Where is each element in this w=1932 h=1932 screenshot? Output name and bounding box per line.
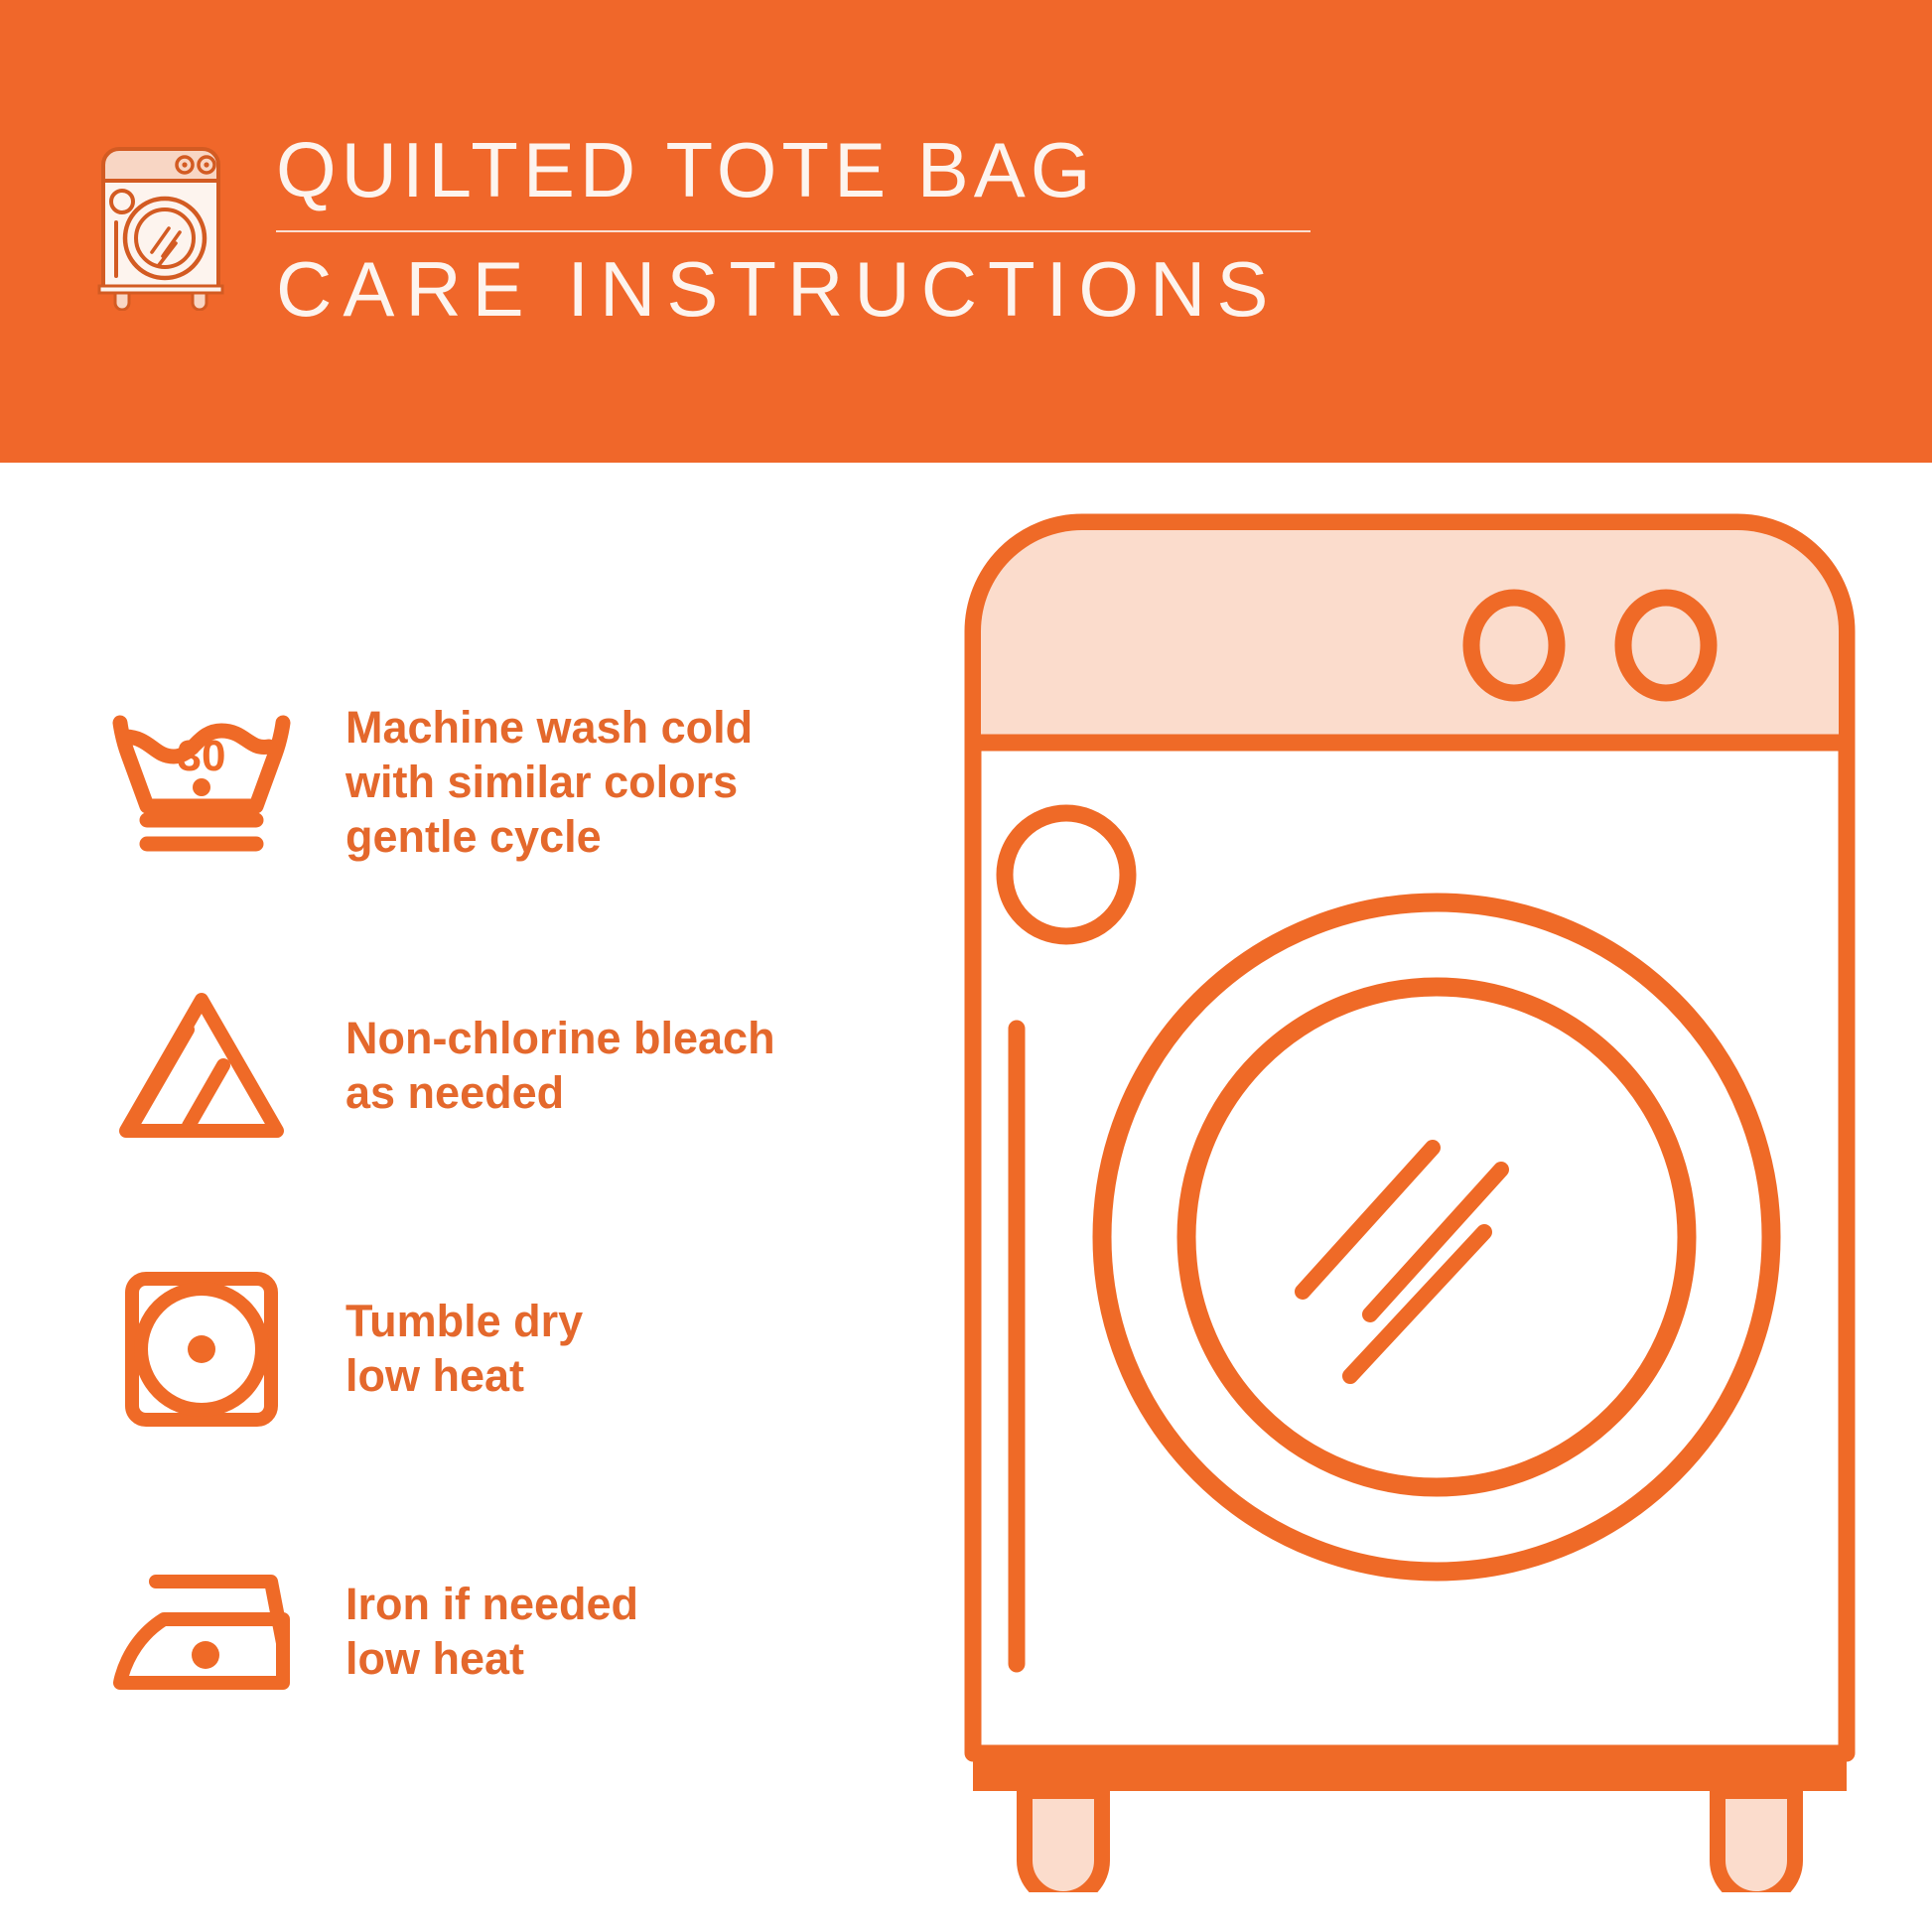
iron-low-heat-icon <box>77 1548 326 1717</box>
foot-left <box>1025 1791 1102 1892</box>
foot-right <box>1718 1791 1795 1892</box>
title-block: QUILTED TOTE BAG CARE INSTRUCTIONS <box>276 127 1311 328</box>
care-label-machine-wash: Machine wash cold with similar colors ge… <box>326 701 753 865</box>
non-chlorine-bleach-triangle-icon <box>77 982 326 1151</box>
care-row-iron: Iron if needed low heat <box>77 1490 931 1773</box>
header-banner: QUILTED TOTE BAG CARE INSTRUCTIONS <box>0 0 1932 463</box>
care-instructions-infographic: QUILTED TOTE BAG CARE INSTRUCTIONS <box>0 0 1932 1932</box>
page-title: QUILTED TOTE BAG <box>276 131 1311 208</box>
care-row-machine-wash: 30 Machine wash cold with similar colors… <box>77 641 931 924</box>
care-label-iron: Iron if needed low heat <box>326 1578 638 1687</box>
care-row-tumble-dry: Tumble dry low heat <box>77 1207 931 1490</box>
care-label-tumble-dry: Tumble dry low heat <box>326 1295 583 1404</box>
header-content: QUILTED TOTE BAG CARE INSTRUCTIONS <box>81 127 1311 328</box>
tumble-dry-low-heat-icon <box>77 1265 326 1434</box>
wash-tub-30-gentle-icon: 30 <box>77 699 326 868</box>
care-row-bleach: Non-chlorine bleach as needed <box>77 924 931 1207</box>
care-label-bleach: Non-chlorine bleach as needed <box>326 1012 775 1121</box>
wash-temperature-value: 30 <box>178 732 226 780</box>
washing-machine-icon <box>81 127 240 311</box>
page-subtitle: CARE INSTRUCTIONS <box>276 250 1311 328</box>
title-divider <box>276 230 1311 232</box>
washing-machine-illustration <box>953 502 1866 1892</box>
care-instruction-list: 30 Machine wash cold with similar colors… <box>77 641 931 1773</box>
content-area: 30 Machine wash cold with similar colors… <box>0 463 1932 1932</box>
